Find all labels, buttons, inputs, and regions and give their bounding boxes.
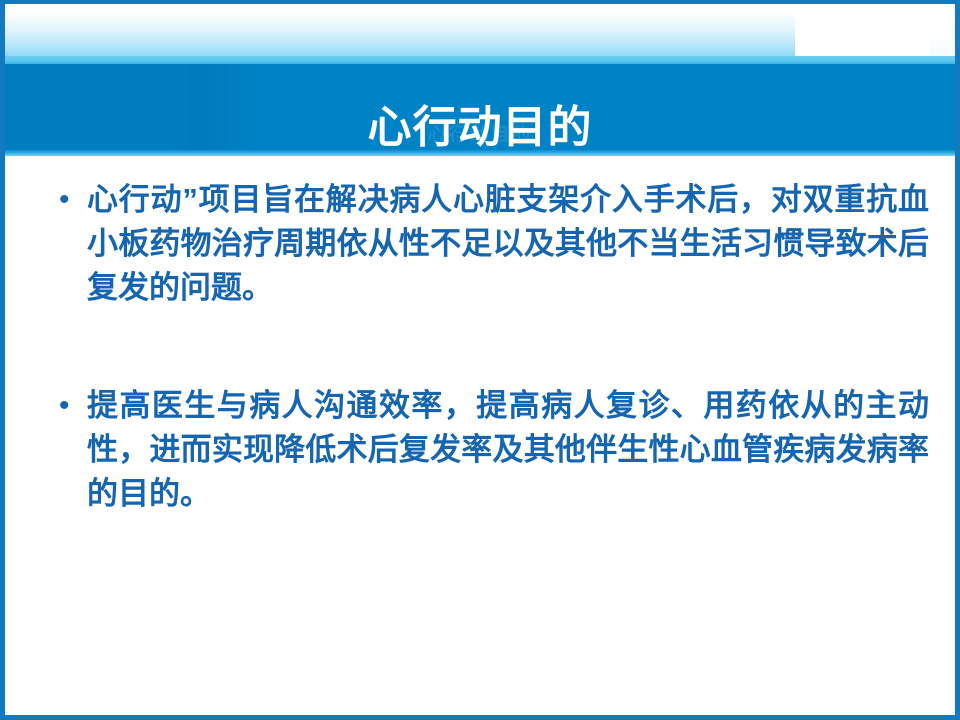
bullet-text: 心行动”项目旨在解决病人心脏支架介入手术后，对双重抗血小板药物治疗周期依从性不足… [87,178,929,310]
header-accent-strip [5,56,955,64]
slide-border-top [0,0,960,4]
slide-border-left [0,0,5,720]
bullet-text: 提高医生与病人沟通效率，提高病人复诊、用药依从的主动性，进而实现降低术后复发率及… [87,384,929,516]
bullet-dot-icon: • [53,384,87,428]
bullet-dot-icon: • [53,178,87,222]
slide-canvas: 心行动目的 心行动目的 • 心行动”项目旨在解决病人心脏支架介入手术后，对双重抗… [0,0,960,720]
slide-body: • 心行动”项目旨在解决病人心脏支架介入手术后，对双重抗血小板药物治疗周期依从性… [5,160,955,715]
bullet-item: • 提高医生与病人沟通效率，提高病人复诊、用药依从的主动性，进而实现降低术后复发… [5,384,955,516]
header-white-notch [795,4,931,56]
slide-border-right [955,0,960,720]
slide-title-ghost: 心行动目的 [0,120,960,142]
bullet-item: • 心行动”项目旨在解决病人心脏支架介入手术后，对双重抗血小板药物治疗周期依从性… [5,178,955,310]
slide-border-bottom [0,715,960,720]
header-white-notch-edge [929,4,955,56]
